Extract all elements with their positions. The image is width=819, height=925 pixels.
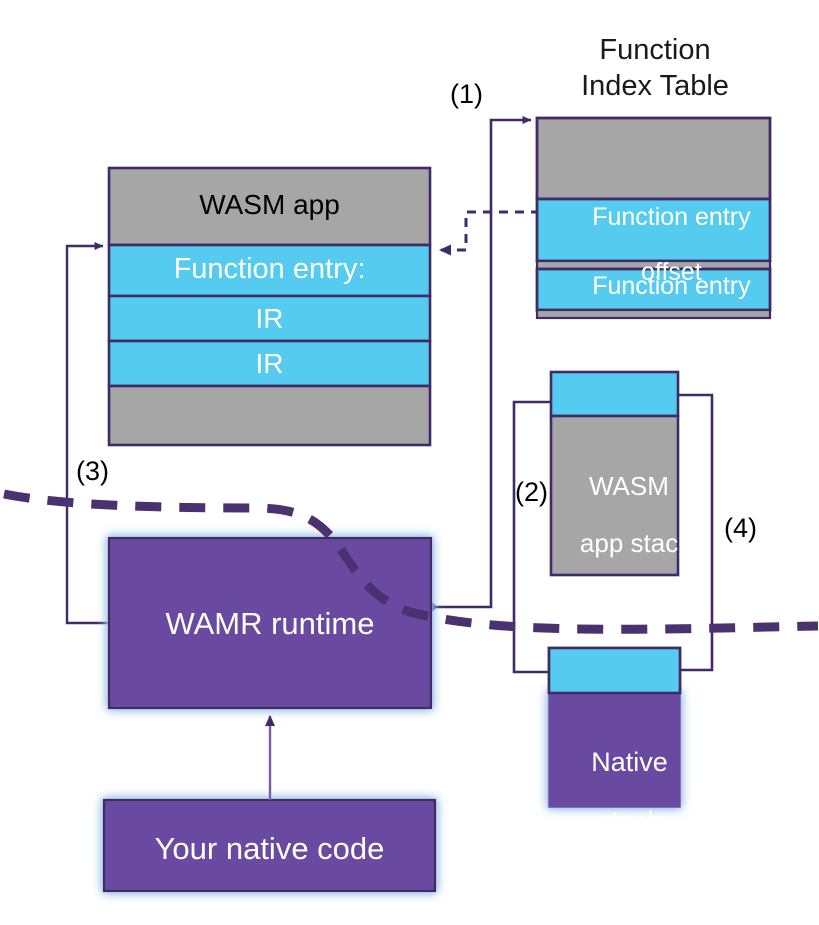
function-index-table-heading-line2: Index Table [581,70,729,102]
native-stack-label-line2: stack [598,806,661,836]
wasm-app-stack-label-line2: app stack [580,528,691,558]
wasm-app-stack-label-line1: WASM [589,471,669,501]
connector-step-3 [67,246,109,623]
diagram-canvas: Function Index Table (1) (2) (3) (4) WAS… [0,0,819,925]
function-index-table-entry-2: Function entry offset [545,245,770,383]
diagram-vector-layer [0,0,819,925]
step-label-1: (1) [450,79,483,109]
native-stack-label-line1: Native [591,747,668,777]
step-label-3: (3) [76,456,109,486]
wamr-runtime-label: WAMR runtime [109,607,431,641]
step-label-2: (2) [515,477,548,507]
step-label-4: (4) [724,513,757,543]
function-index-table-entry-2-line2: offset [641,327,702,355]
wasm-app-title: WASM app [109,190,430,221]
function-index-table-entry-2-line1: Function entry [592,272,750,300]
function-index-table-heading-line1: Function [599,34,710,66]
wasm-app-stack-label: WASM app stack [551,443,678,586]
wasm-app-row-ir-1: IR [109,304,430,335]
function-index-table-entry-1-line1: Function entry [592,203,750,231]
function-index-table-heading: Function Index Table [540,32,770,105]
wasm-app-row-ir-2: IR [109,349,430,380]
wasm-app-row-function-entry: Function entry: [109,254,430,286]
native-code-label: Your native code [104,832,435,866]
native-stack-label: Native stack [549,718,680,866]
